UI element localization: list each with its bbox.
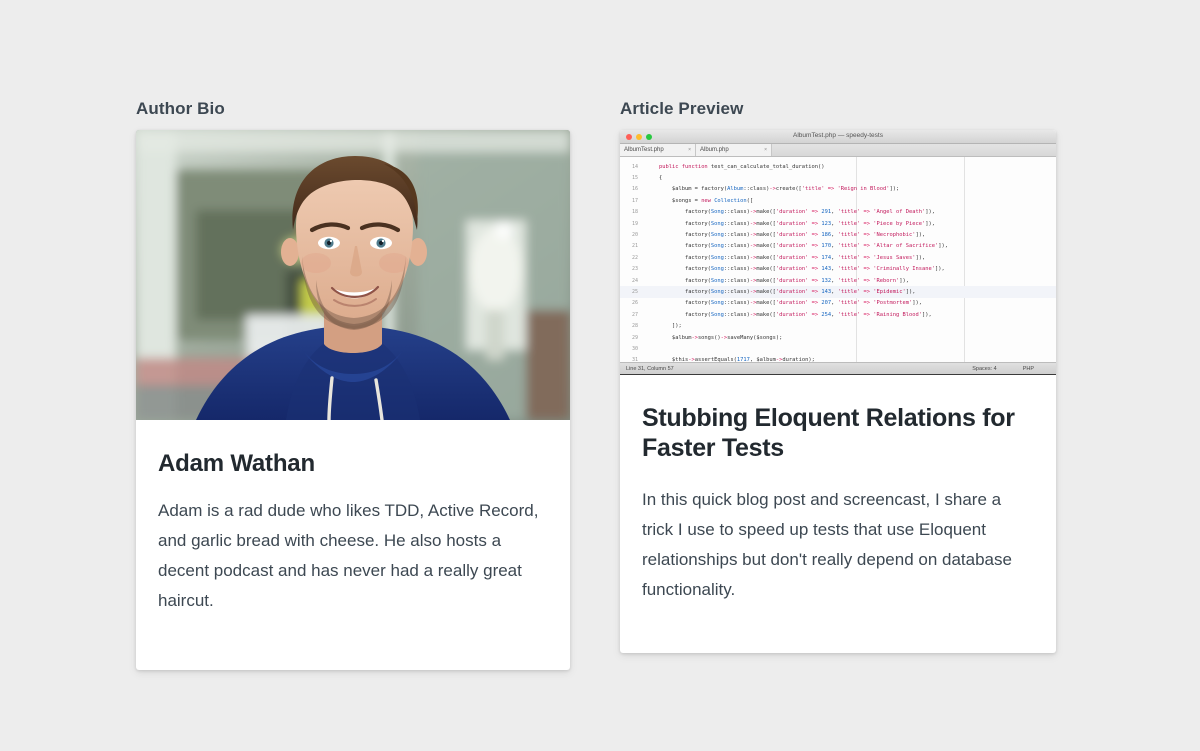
code-line: 15 { xyxy=(620,172,1056,183)
close-tab-icon[interactable]: × xyxy=(688,147,691,153)
code-line: 28 ]); xyxy=(620,320,1056,331)
code-line: 25 factory(Song::class)->make(['duration… xyxy=(620,286,1056,297)
code-line-text: factory(Song::class)->make(['duration' =… xyxy=(646,255,925,261)
line-number: 17 xyxy=(620,198,646,204)
code-line-text: factory(Song::class)->make(['duration' =… xyxy=(646,221,935,227)
line-number: 28 xyxy=(620,323,646,329)
editor-title-bar: AlbumTest.php — speedy-tests xyxy=(620,130,1056,144)
editor-tab-label: AlbumTest.php xyxy=(624,147,664,153)
code-line-text: ]); xyxy=(646,323,682,329)
line-number: 21 xyxy=(620,243,646,249)
code-line-text: $album = factory(Album::class)->create([… xyxy=(646,186,899,192)
line-number: 29 xyxy=(620,335,646,341)
code-line-text: factory(Song::class)->make(['duration' =… xyxy=(646,300,922,306)
status-indentation: Spaces: 4 xyxy=(972,366,996,372)
line-number: 26 xyxy=(620,300,646,306)
code-line: 16 $album = factory(Album::class)->creat… xyxy=(620,184,1056,195)
code-line-text: factory(Song::class)->make(['duration' =… xyxy=(646,289,916,295)
code-line-text: $album->songs()->saveMany($songs); xyxy=(646,335,782,341)
author-name: Adam Wathan xyxy=(158,450,548,478)
page-root: Author Bio Article Preview xyxy=(0,0,1200,751)
code-line-text: factory(Song::class)->make(['duration' =… xyxy=(646,243,948,249)
editor-tab-album[interactable]: Album.php × xyxy=(696,144,772,156)
code-line: 29 $album->songs()->saveMany($songs); xyxy=(620,332,1056,343)
editor-tab-bar: AlbumTest.php × Album.php × xyxy=(620,144,1056,157)
code-line: 26 factory(Song::class)->make(['duration… xyxy=(620,298,1056,309)
code-line-text: factory(Song::class)->make(['duration' =… xyxy=(646,278,909,284)
article-title: Stubbing Eloquent Relations for Faster T… xyxy=(642,403,1034,463)
article-content: Stubbing Eloquent Relations for Faster T… xyxy=(620,375,1056,605)
author-bio-content: Adam Wathan Adam is a rad dude who likes… xyxy=(136,420,570,616)
code-line: 20 factory(Song::class)->make(['duration… xyxy=(620,229,1056,240)
author-bio-card: Adam Wathan Adam is a rad dude who likes… xyxy=(136,130,570,670)
line-number: 18 xyxy=(620,209,646,215)
close-tab-icon[interactable]: × xyxy=(764,147,767,153)
line-number: 23 xyxy=(620,266,646,272)
line-number: 19 xyxy=(620,221,646,227)
code-line: 21 factory(Song::class)->make(['duration… xyxy=(620,241,1056,252)
status-syntax-mode: PHP xyxy=(1023,366,1034,372)
editor-tab-albumtest[interactable]: AlbumTest.php × xyxy=(620,144,696,156)
code-line: 30 xyxy=(620,343,1056,354)
code-line: 27 factory(Song::class)->make(['duration… xyxy=(620,309,1056,320)
line-number: 24 xyxy=(620,278,646,284)
article-excerpt: In this quick blog post and screencast, … xyxy=(642,485,1034,605)
code-line: 14 public function test_can_calculate_to… xyxy=(620,161,1056,172)
section-heading-article-preview: Article Preview xyxy=(620,99,743,119)
code-line: 24 factory(Song::class)->make(['duration… xyxy=(620,275,1056,286)
code-editor-screenshot: AlbumTest.php — speedy-tests AlbumTest.p… xyxy=(620,130,1056,375)
code-line-text: factory(Song::class)->make(['duration' =… xyxy=(646,266,945,272)
line-number: 16 xyxy=(620,186,646,192)
code-line-text: factory(Song::class)->make(['duration' =… xyxy=(646,312,932,318)
code-line-text: { xyxy=(646,175,662,181)
editor-status-bar: Line 31, Column 57 Spaces: 4 PHP xyxy=(620,362,1056,374)
line-number: 27 xyxy=(620,312,646,318)
editor-tab-label: Album.php xyxy=(700,147,729,153)
code-line: 22 factory(Song::class)->make(['duration… xyxy=(620,252,1056,263)
line-number: 20 xyxy=(620,232,646,238)
line-number: 14 xyxy=(620,164,646,170)
section-heading-author-bio: Author Bio xyxy=(136,99,225,119)
editor-window-title: AlbumTest.php — speedy-tests xyxy=(620,132,1056,139)
code-line-text: $songs = new Collection([ xyxy=(646,198,753,204)
editor-tab-bar-filler xyxy=(772,144,1056,156)
status-cursor-position: Line 31, Column 57 xyxy=(626,366,972,372)
editor-code-lines: 14 public function test_can_calculate_to… xyxy=(620,157,1056,375)
code-line-text: factory(Song::class)->make(['duration' =… xyxy=(646,232,925,238)
code-line: 17 $songs = new Collection([ xyxy=(620,195,1056,206)
author-portrait-photo xyxy=(136,130,570,420)
code-line: 18 factory(Song::class)->make(['duration… xyxy=(620,207,1056,218)
article-preview-card: AlbumTest.php — speedy-tests AlbumTest.p… xyxy=(620,130,1056,653)
line-number: 25 xyxy=(620,289,646,295)
line-number: 30 xyxy=(620,346,646,352)
code-line: 19 factory(Song::class)->make(['duration… xyxy=(620,218,1056,229)
code-line: 23 factory(Song::class)->make(['duration… xyxy=(620,264,1056,275)
code-line-text: factory(Song::class)->make(['duration' =… xyxy=(646,209,935,215)
code-line-text: public function test_can_calculate_total… xyxy=(646,164,825,170)
editor-code-area[interactable]: 14 public function test_can_calculate_to… xyxy=(620,157,1056,362)
line-number: 22 xyxy=(620,255,646,261)
author-bio-text: Adam is a rad dude who likes TDD, Active… xyxy=(158,496,548,616)
line-number: 15 xyxy=(620,175,646,181)
